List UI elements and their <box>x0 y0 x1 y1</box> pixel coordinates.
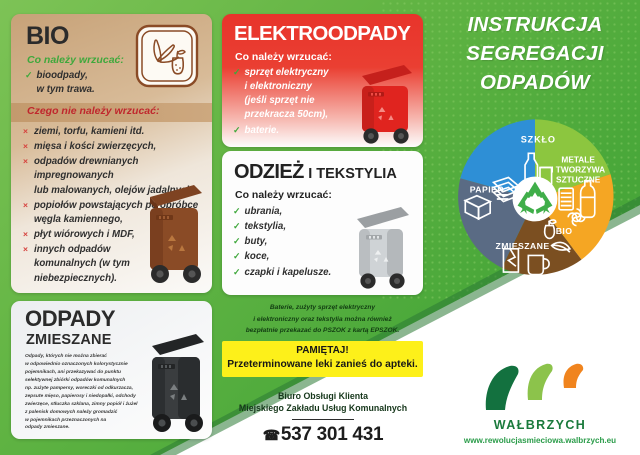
check-icon: ✓ <box>25 69 33 97</box>
phone-number-text: 537 301 431 <box>281 424 383 445</box>
walbrzych-brand-text: WAŁBRZYCH <box>455 418 625 432</box>
bio-rejected-item: ×mięsa i kości zwierzęcych, <box>23 140 203 154</box>
odziez-accepted-item: ✓buty, <box>233 235 363 249</box>
cross-icon: × <box>23 228 30 242</box>
odziez-accepted-heading: Co należy wrzucać: <box>235 189 332 201</box>
odziez-accepted-item: ✓ubrania, <box>233 205 363 219</box>
phone-number[interactable]: ☎537 301 431 <box>218 424 428 446</box>
odziez-title: ODZIEŻ I TEKSTYLIA <box>234 161 397 184</box>
svg-text:BIO: BIO <box>556 226 573 236</box>
bio-rejected-item-label: płyt wiórowych i MDF, <box>34 228 135 242</box>
bio-rejected-item-label: ziemi, torfu, kamieni itd. <box>34 125 144 139</box>
elektroodpady-accepted-heading: Co należy wrzucać: <box>235 51 332 63</box>
bio-panel: BIO Co należy wrzucać: ✓bioodpady, w tym… <box>11 14 212 293</box>
bio-rejected-item: ×ziemi, torfu, kamieni itd. <box>23 125 203 139</box>
contact-divider <box>292 419 354 420</box>
phone-icon: ☎ <box>263 427 280 443</box>
check-icon: ✓ <box>233 220 241 234</box>
remember-title: PAMIĘTAJ! <box>222 345 423 356</box>
bio-accepted-heading: Co należy wrzucać: <box>27 54 124 66</box>
segregation-wheel-diagram: SZKŁO METALE I TWORZYWA SZTUCZNE BIO ZMI… <box>452 116 618 282</box>
odziez-accepted-item: ✓tekstylia, <box>233 220 363 234</box>
check-icon: ✓ <box>233 124 241 138</box>
poster-title-line-1: INSTRUKCJA <box>437 10 633 39</box>
elektroodpady-accepted-item-label: sprzęt elektryczny i elektroniczny (jeśl… <box>245 66 329 123</box>
elektroodpady-accepted-list: ✓sprzęt elektryczny i elektroniczny (jeś… <box>233 66 353 139</box>
bio-rejected-heading: Czego nie należy wrzucać: <box>27 105 159 117</box>
odziez-accepted-item-label: czapki i kapelusze. <box>245 266 332 280</box>
cross-icon: × <box>23 155 30 197</box>
office-name: Biuro Obsługi Klienta Miejskiego Zakładu… <box>218 390 428 415</box>
odziez-accepted-item: ✓koce, <box>233 250 363 264</box>
bio-accepted-item-label: bioodpady, w tym trawa. <box>37 69 95 97</box>
cross-icon: × <box>23 199 30 227</box>
elektroodpady-accepted-item: ✓baterie. <box>233 124 353 138</box>
odziez-accepted-item-label: ubrania, <box>245 205 283 219</box>
odziez-title-bold: ODZIEŻ <box>234 161 304 183</box>
elektroodpady-accepted-item: ✓sprzęt elektryczny i elektroniczny (jeś… <box>233 66 353 123</box>
poster-title-line-2: SEGREGACJI <box>437 39 633 68</box>
grey-bin-icon <box>345 201 415 291</box>
website-url[interactable]: www.rewolucjasmieciowa.walbrzych.eu <box>440 436 640 445</box>
red-bin-icon <box>348 60 418 146</box>
svg-text:I TWORZYWA: I TWORZYWA <box>551 164 605 174</box>
black-bin-icon <box>134 324 208 436</box>
remember-banner: PAMIĘTAJ! Przeterminowane leki zanieś do… <box>222 341 423 377</box>
walbrzych-logo-icon <box>480 362 600 414</box>
check-icon: ✓ <box>233 235 241 249</box>
pszok-note: Baterie, zużyty sprzęt elektryczny i ele… <box>222 302 423 337</box>
remember-text: Przeterminowane leki zanieś do apteki. <box>222 359 423 370</box>
odziez-accepted-item-label: tekstylia, <box>245 220 286 234</box>
cross-icon: × <box>23 243 30 285</box>
odziez-accepted-item: ✓czapki i kapelusze. <box>233 266 363 280</box>
check-icon: ✓ <box>233 205 241 219</box>
poster-title: INSTRUKCJA SEGREGACJI ODPADÓW <box>437 10 633 97</box>
bio-rejected-item-label: innych odpadów komunalnych (w tym niebez… <box>34 243 130 285</box>
poster-title-line-3: ODPADÓW <box>437 68 633 97</box>
svg-text:SZKŁO: SZKŁO <box>521 135 556 145</box>
svg-text:SZTUCZNE: SZTUCZNE <box>556 174 601 184</box>
bio-accepted-list: ✓bioodpady, w tym trawa. <box>25 69 145 98</box>
zmieszane-panel: ODPADY ZMIESZANE Odpady, których nie moż… <box>11 301 212 439</box>
svg-text:METALE: METALE <box>561 154 595 164</box>
cross-icon: × <box>23 140 30 154</box>
zmieszane-subtitle: ZMIESZANE <box>26 332 112 348</box>
cross-icon: × <box>23 125 30 139</box>
elektroodpady-title: ELEKTROODPADY <box>234 22 410 46</box>
check-icon: ✓ <box>233 66 241 123</box>
elektroodpady-panel: ELEKTROODPADY Co należy wrzucać: ✓sprzęt… <box>222 14 423 147</box>
odziez-accepted-item-label: buty, <box>245 235 268 249</box>
odziez-panel: ODZIEŻ I TEKSTYLIA Co należy wrzucać: ✓u… <box>222 151 423 295</box>
bio-title: BIO <box>26 22 69 51</box>
check-icon: ✓ <box>233 250 241 264</box>
check-icon: ✓ <box>233 266 241 280</box>
bio-food-icon <box>135 24 199 88</box>
odziez-accepted-list: ✓ubrania,✓tekstylia,✓buty,✓koce,✓czapki … <box>233 205 363 281</box>
elektroodpady-accepted-item-label: baterie. <box>245 124 279 138</box>
zmieszane-paragraph: Odpady, których nie można zbierać w odpo… <box>25 353 152 432</box>
odziez-accepted-item-label: koce, <box>245 250 270 264</box>
zmieszane-title: ODPADY <box>25 308 115 330</box>
brown-bin-icon <box>132 175 206 287</box>
bio-accepted-item: ✓bioodpady, w tym trawa. <box>25 69 145 97</box>
bio-rejected-item-label: mięsa i kości zwierzęcych, <box>34 140 156 154</box>
odziez-title-rest: I TEKSTYLIA <box>308 166 397 182</box>
